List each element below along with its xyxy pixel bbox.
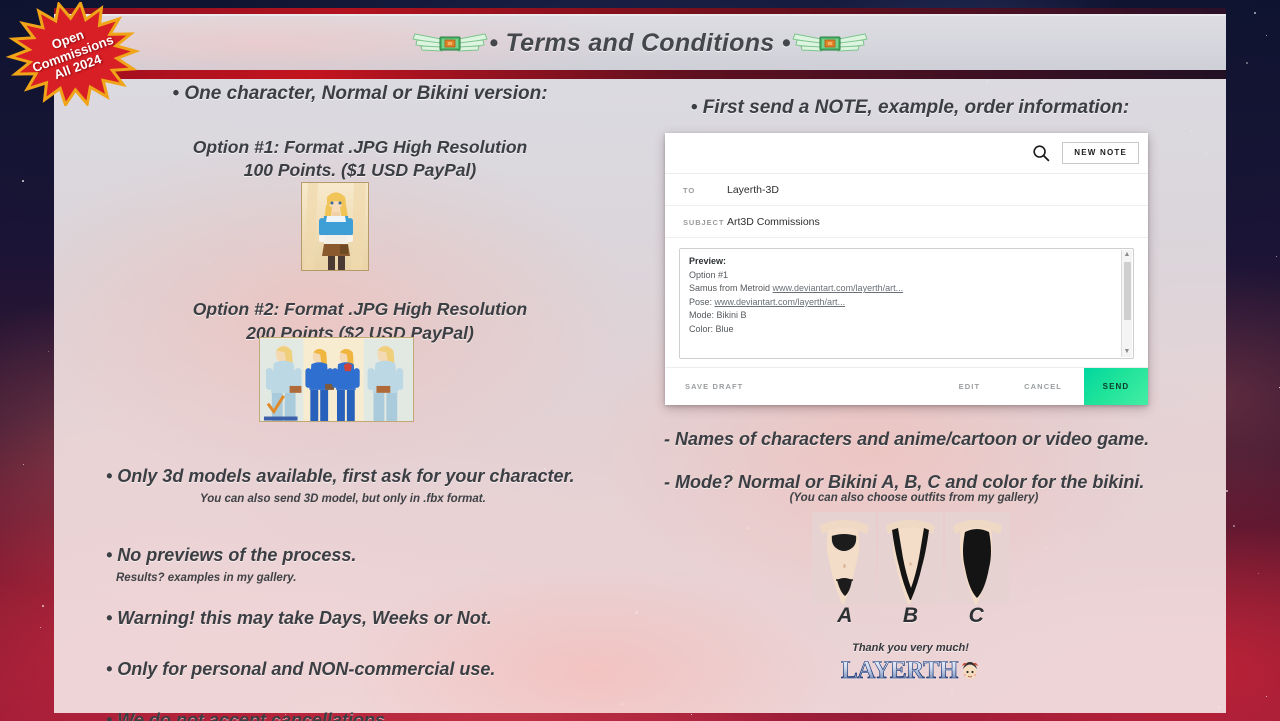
preview-title: Preview: xyxy=(689,255,1124,269)
preview-lines: Option #1Samus from Metroid www.devianta… xyxy=(689,269,1124,337)
subject-field-row[interactable]: SUBJECT Art3D Commissions xyxy=(665,206,1148,238)
search-icon[interactable] xyxy=(1032,144,1050,162)
new-note-dialog: NEW NOTE TO Layerth-3D SUBJECT Art3D Com… xyxy=(665,133,1148,405)
page-title: • Terms and Conditions • xyxy=(489,29,791,58)
bikini-c-image xyxy=(945,512,1009,604)
dash-line-names: - Names of characters and anime/cartoon … xyxy=(664,428,1164,451)
samus-zero-suit-artwork xyxy=(259,337,414,422)
note-dialog-toolbar: NEW NOTE xyxy=(665,133,1148,173)
left-heading: • One character, Normal or Bikini versio… xyxy=(80,82,640,106)
scroll-up-icon[interactable]: ▲ xyxy=(1124,250,1131,260)
subject-label: SUBJECT xyxy=(683,218,717,227)
preview-line: Color: Blue xyxy=(689,323,1124,337)
preview-link[interactable]: www.deviantart.com/layerth/art... xyxy=(715,297,846,307)
preview-line: Option #1 xyxy=(689,269,1124,283)
preview-line-text: Mode: Bikini B xyxy=(689,310,747,320)
winged-money-icon-left xyxy=(411,22,489,64)
preview-scrollbar[interactable]: ▲ ▼ xyxy=(1121,250,1132,357)
bullet-no-previews: • No previews of the process. xyxy=(80,544,640,567)
option-1-line-1: Option #1: Format .JPG High Resolution xyxy=(80,136,640,159)
preview-line: Samus from Metroid www.deviantart.com/la… xyxy=(689,282,1124,296)
bullet-3d-models-sub: You can also send 3D model, but only in … xyxy=(80,492,640,507)
layerth-logo-text: LAYERTH xyxy=(841,658,958,683)
gallery-note-wrap: (You can also choose outfits from my gal… xyxy=(664,491,1164,506)
to-label: TO xyxy=(683,186,717,195)
layerth-logo: LAYERTH xyxy=(812,658,1009,683)
option-1-line-2: 100 Points. ($1 USD PayPal) xyxy=(80,159,640,182)
bikini-b-image xyxy=(878,512,942,604)
bullet-3d-models: • Only 3d models available, first ask fo… xyxy=(80,465,640,488)
preview-line-text: Option #1 xyxy=(689,270,728,280)
bullet-personal-use: • Only for personal and NON-commercial u… xyxy=(80,658,640,681)
preview-line-text: Color: Blue xyxy=(689,324,734,334)
footer-spacer xyxy=(743,368,936,405)
scroll-down-icon[interactable]: ▼ xyxy=(1124,347,1131,357)
title-bar: • Terms and Conditions • xyxy=(54,14,1226,70)
preview-textarea[interactable]: Preview: Option #1Samus from Metroid www… xyxy=(679,248,1134,359)
note-body: Preview: Option #1Samus from Metroid www… xyxy=(665,238,1148,367)
to-value: Layerth-3D xyxy=(727,184,779,196)
bikini-label-c: C xyxy=(943,604,1009,628)
preview-line-text: Samus from Metroid xyxy=(689,283,773,293)
scroll-thumb[interactable] xyxy=(1124,262,1131,320)
bullet-no-previews-sub: Results? examples in my gallery. xyxy=(80,571,640,586)
thank-you-text: Thank you very much! xyxy=(812,642,1009,654)
bikini-label-b: B xyxy=(878,604,944,628)
right-heading: • First send a NOTE, example, order info… xyxy=(650,96,1170,120)
to-field-row[interactable]: TO Layerth-3D xyxy=(665,174,1148,206)
option-2-line-1: Option #2: Format .JPG High Resolution xyxy=(80,298,640,321)
cancel-button[interactable]: CANCEL xyxy=(1002,368,1084,405)
bikini-a-image xyxy=(812,512,876,604)
send-button[interactable]: SEND xyxy=(1084,368,1148,405)
winged-money-icon-right xyxy=(791,22,869,64)
gallery-note: (You can also choose outfits from my gal… xyxy=(664,491,1164,506)
bikini-label-a: A xyxy=(812,604,878,628)
edit-button[interactable]: EDIT xyxy=(937,368,1002,405)
new-note-button[interactable]: NEW NOTE xyxy=(1062,142,1139,164)
preview-line: Mode: Bikini B xyxy=(689,309,1124,323)
note-dialog-footer: SAVE DRAFT EDIT CANCEL SEND xyxy=(665,367,1148,405)
bikini-options-images xyxy=(812,512,1009,604)
zelda-character-artwork xyxy=(301,182,369,271)
bullet-no-cancellations: • We do not accept cancellations. xyxy=(80,709,640,721)
save-draft-button[interactable]: SAVE DRAFT xyxy=(665,368,743,405)
bottom-red-stripe xyxy=(54,70,1226,79)
subject-value: Art3D Commissions xyxy=(727,216,820,228)
preview-link[interactable]: www.deviantart.com/layerth/art... xyxy=(773,283,904,293)
preview-line-text: Pose: xyxy=(689,297,715,307)
dash-line-1-wrap: - Names of characters and anime/cartoon … xyxy=(664,428,1164,451)
bullet-warning-days: • Warning! this may take Days, Weeks or … xyxy=(80,607,640,630)
layerth-mascot-icon xyxy=(960,660,980,682)
right-column: • First send a NOTE, example, order info… xyxy=(650,96,1170,120)
bikini-labels-row: A B C xyxy=(812,604,1009,628)
preview-line: Pose: www.deviantart.com/layerth/art... xyxy=(689,296,1124,310)
